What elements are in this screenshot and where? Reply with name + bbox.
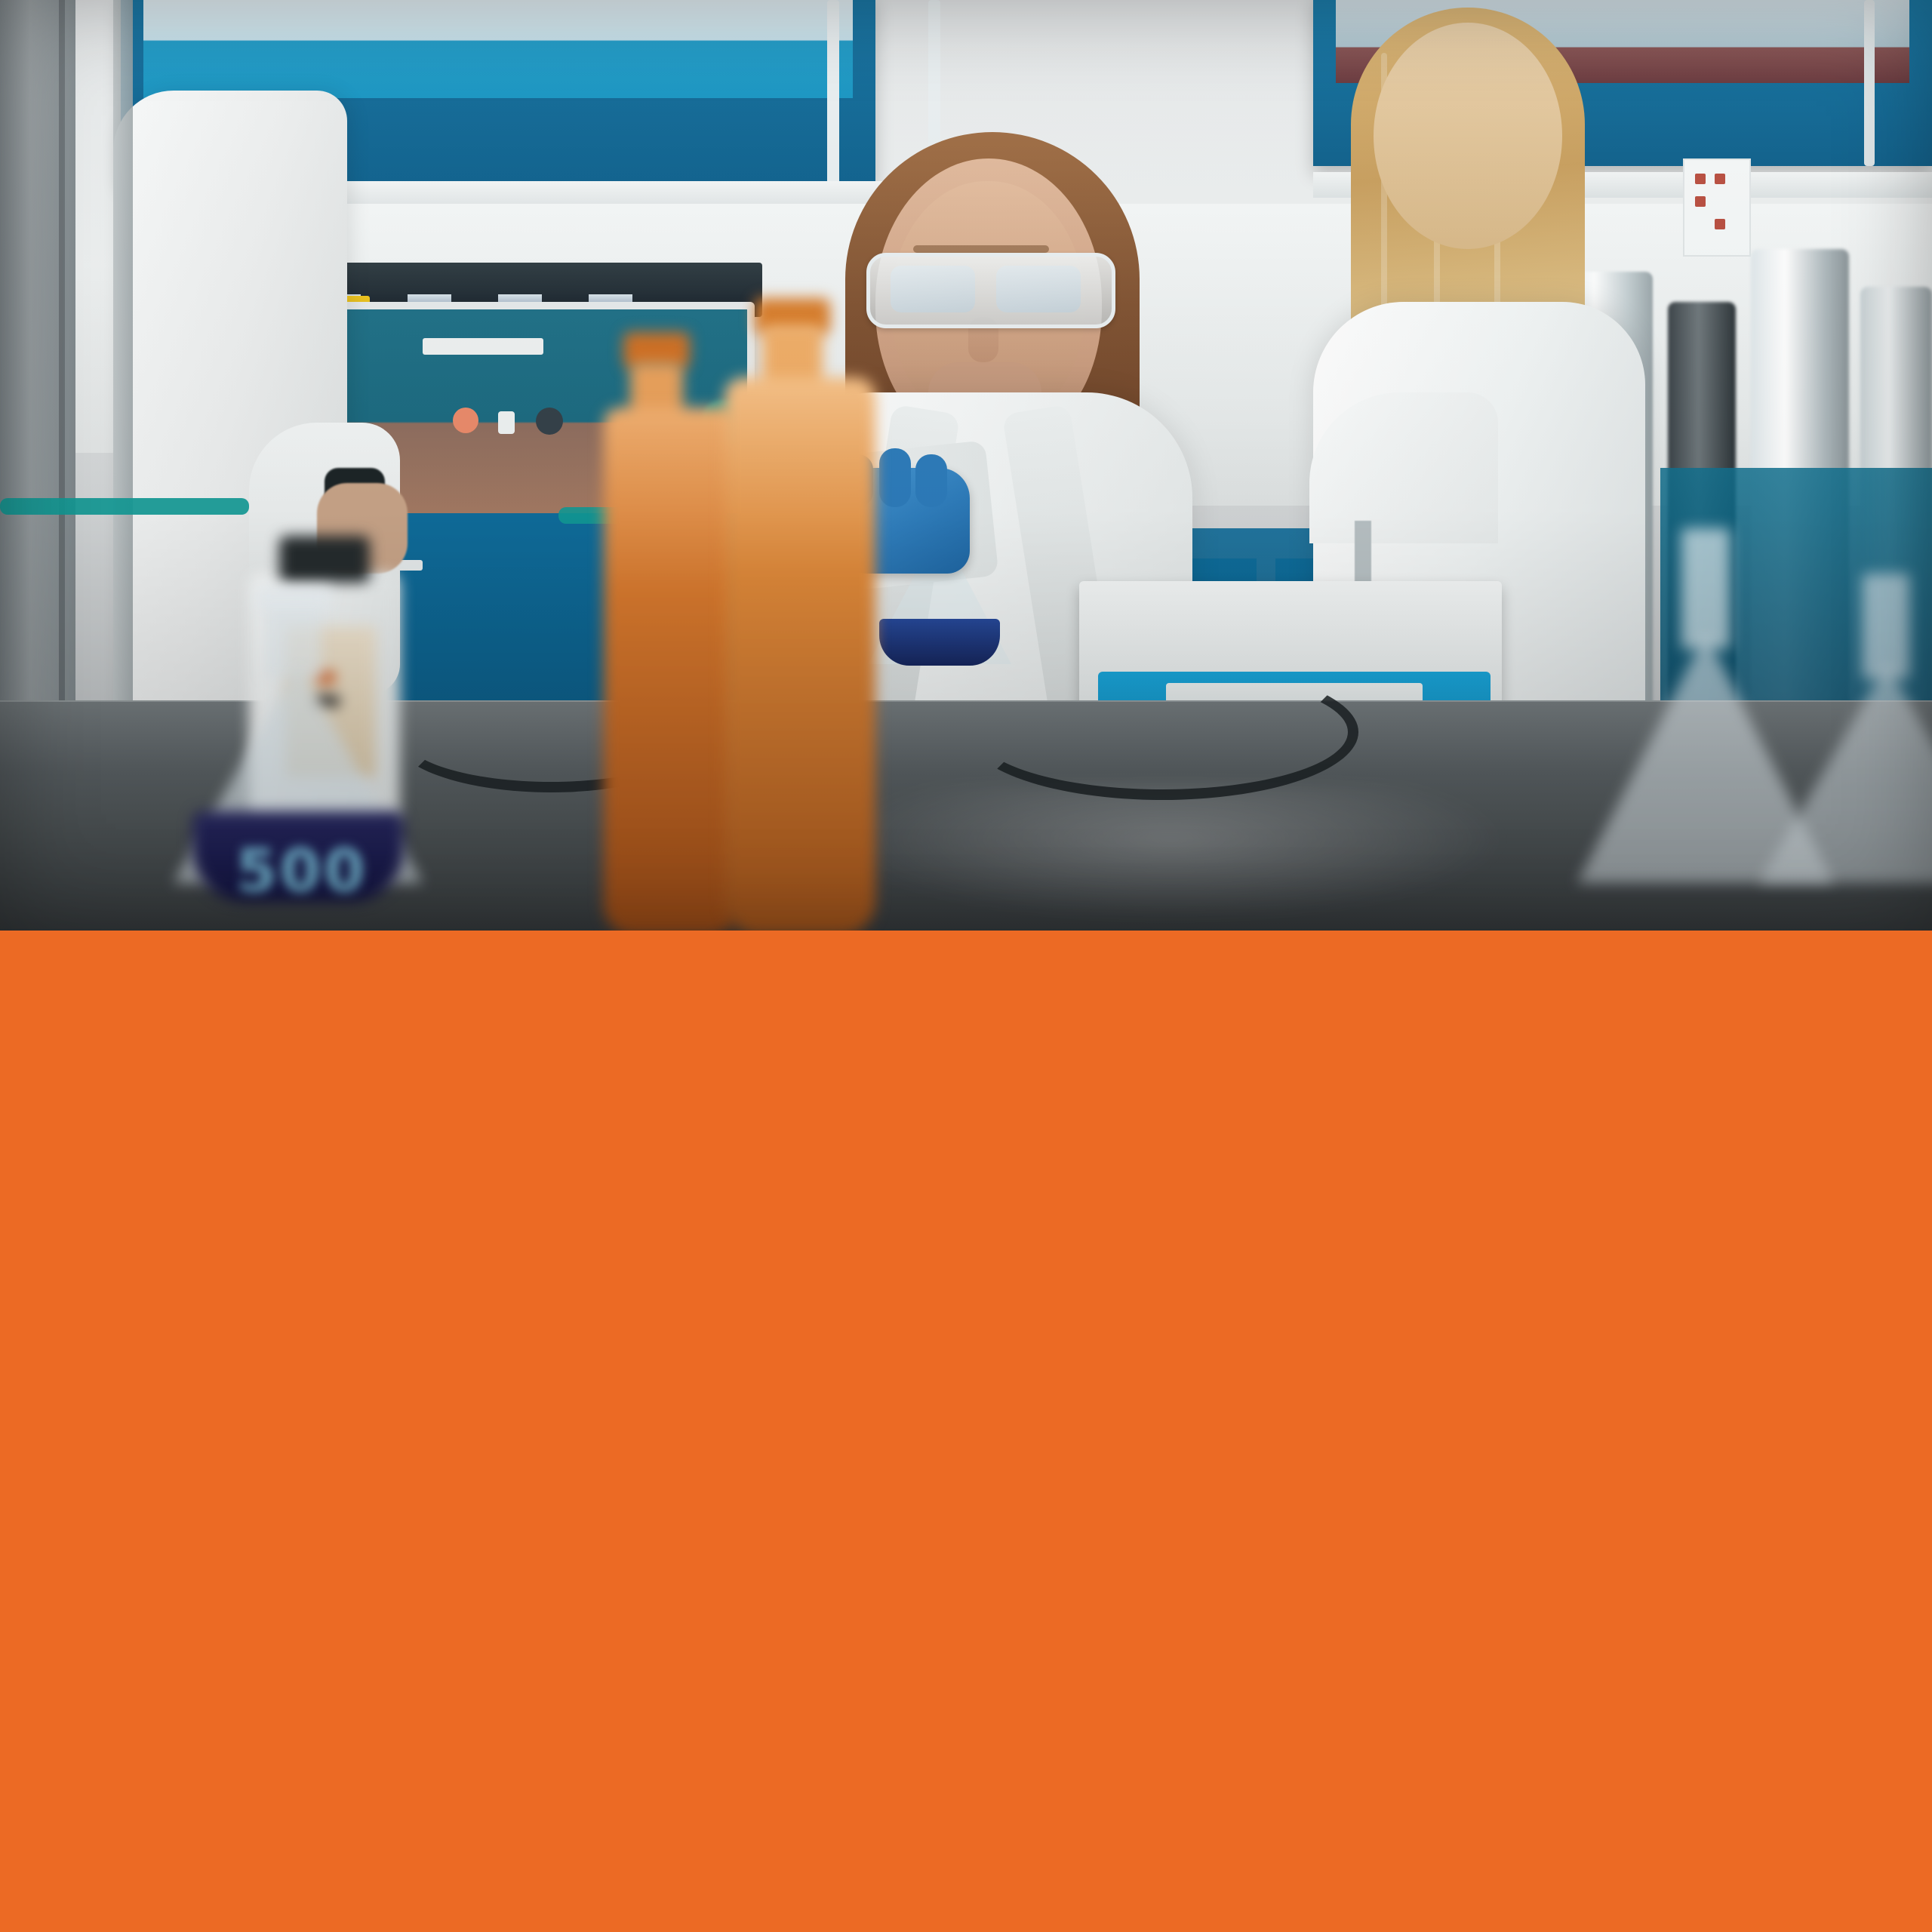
- amber-glass-bottle: [604, 408, 740, 931]
- instrument-display: [423, 338, 543, 355]
- laboratory-photo: 500: [0, 0, 1932, 931]
- flask-neck: [1863, 574, 1909, 679]
- cabinet-glass-left: [143, 0, 853, 98]
- headline-line-1: THERE IS A FINE LINE: [146, 1923, 1806, 1932]
- safety-goggles: [866, 253, 1115, 328]
- flask-lip: [255, 586, 332, 611]
- poster-canvas: 500 THERE IS A FINE LINE BETWEEN PASSION…: [0, 0, 1932, 1932]
- placard-dot: [1695, 174, 1706, 184]
- orange-text-panel: THERE IS A FINE LINE BETWEEN PASSION AND…: [0, 931, 1932, 1932]
- flask-volume-label: 500: [219, 838, 385, 906]
- instrument-indicator: [498, 411, 515, 434]
- wall-placard: [1683, 158, 1751, 257]
- blonde-scientist-head: [1374, 23, 1562, 249]
- instrument-power-button: [453, 408, 478, 433]
- flask-neck: [1681, 528, 1730, 649]
- page-title: THERE IS A FINE LINE BETWEEN PASSION AND…: [146, 1923, 1806, 1932]
- glove-finger: [915, 454, 947, 507]
- amber-glass-bottle: [724, 377, 875, 931]
- glove-finger: [879, 448, 911, 507]
- placard-dot: [1715, 219, 1725, 229]
- erlenmeyer-flask: [1758, 664, 1932, 883]
- placard-dot: [1715, 174, 1725, 184]
- bottle-cap: [279, 536, 370, 583]
- bench-reflection: [830, 785, 1509, 921]
- scientist-brow: [913, 245, 1049, 253]
- instrument-dial: [536, 408, 563, 435]
- teal-counter-strip: [0, 498, 249, 515]
- cabinet-handle: [1864, 0, 1875, 166]
- flask-blue-liquid: [879, 619, 1000, 666]
- cabinet-handle: [827, 0, 839, 189]
- power-cable: [966, 664, 1358, 800]
- placard-dot: [1695, 196, 1706, 207]
